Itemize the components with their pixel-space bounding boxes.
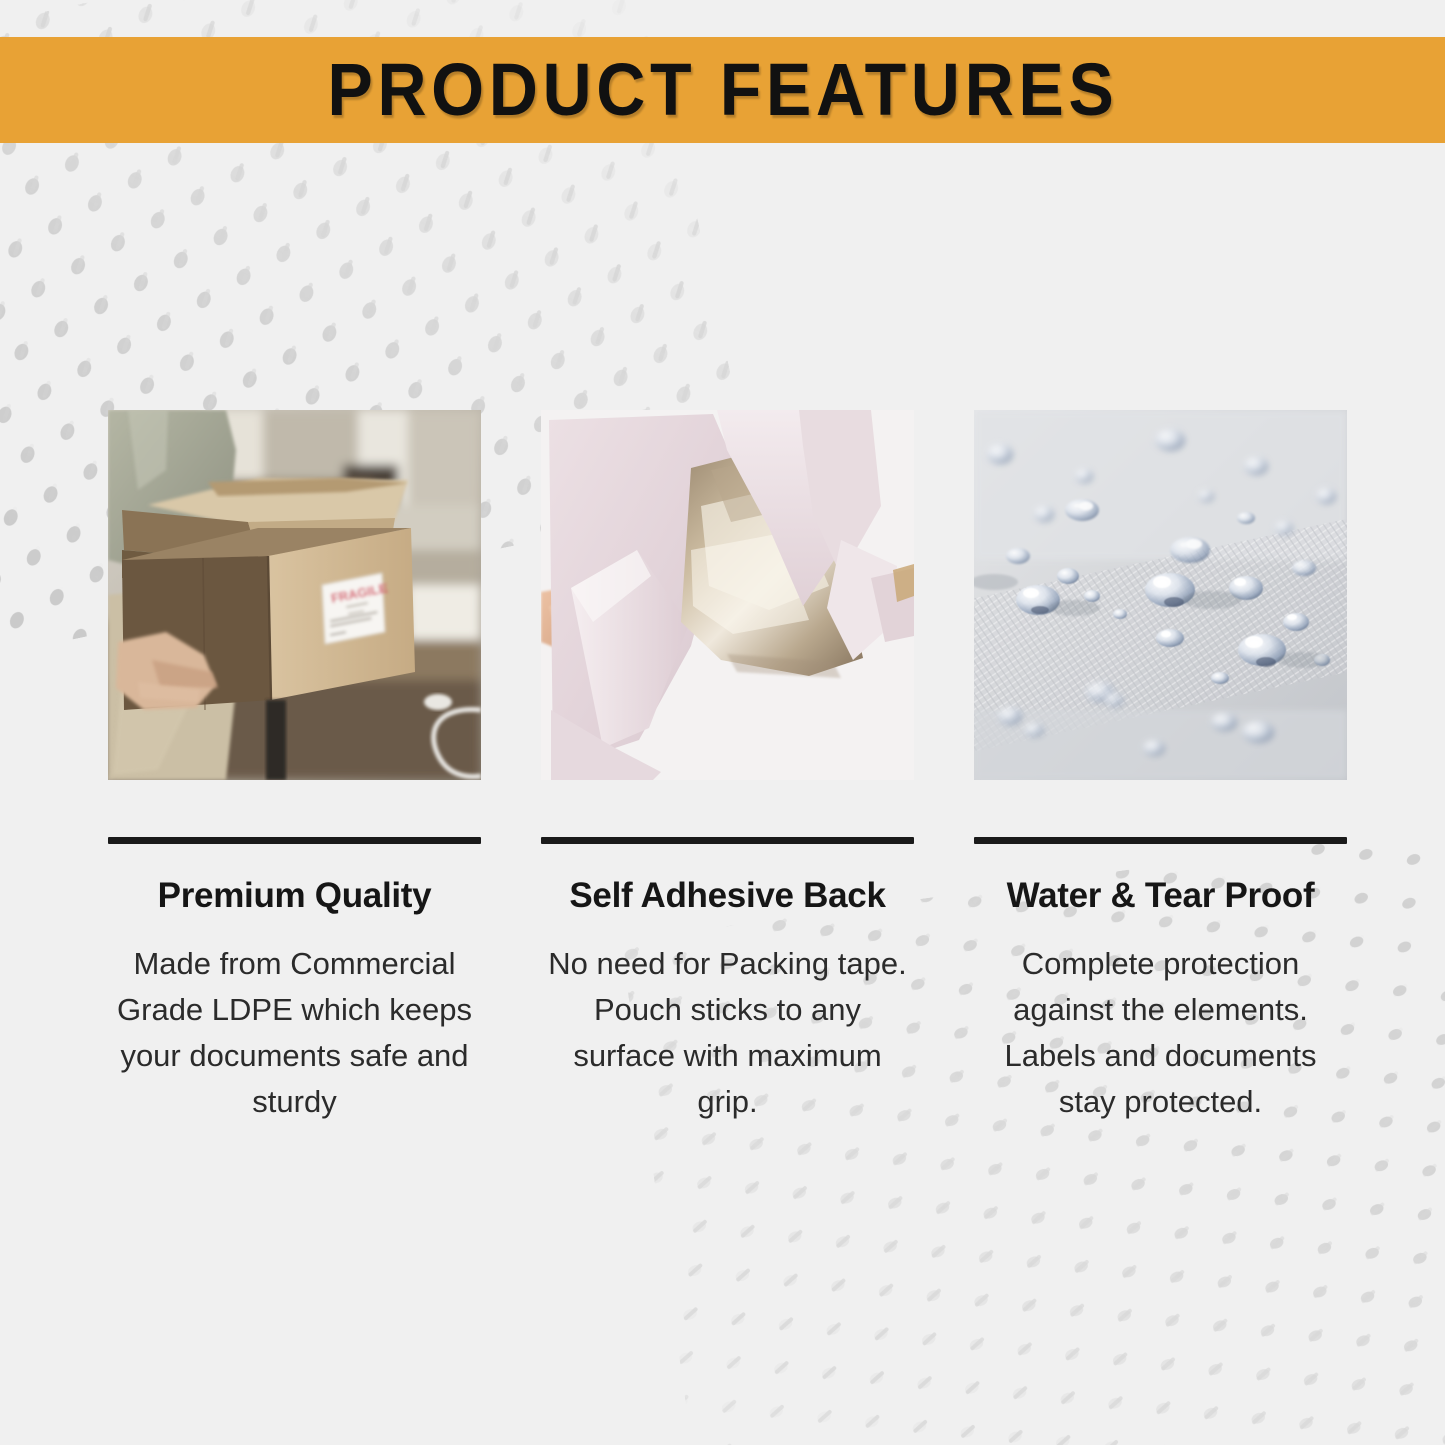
page-title: PRODUCT FEATURES bbox=[327, 53, 1118, 127]
feature-body: No need for Packing tape. Pouch sticks t… bbox=[541, 941, 914, 1125]
product-features-banner: PRODUCT FEATURES bbox=[0, 37, 1445, 143]
person-carrying-cardboard-boxes-photo: FRAGILE bbox=[108, 410, 481, 780]
feature-heading: Premium Quality bbox=[108, 876, 481, 916]
feature-divider bbox=[108, 837, 481, 844]
feature-card-water-tear-proof: Water & Tear Proof Complete protection a… bbox=[974, 410, 1347, 1125]
feature-body: Complete protection against the elements… bbox=[974, 941, 1347, 1125]
feature-body: Made from Commercial Grade LDPE which ke… bbox=[108, 941, 481, 1125]
peeling-adhesive-backing-photo bbox=[541, 410, 914, 780]
feature-divider bbox=[974, 837, 1347, 844]
feature-card-self-adhesive-back: Self Adhesive Back No need for Packing t… bbox=[541, 410, 914, 1125]
feature-divider bbox=[541, 837, 914, 844]
water-droplets-on-fabric-photo bbox=[974, 410, 1347, 780]
feature-grid: FRAGILE Premium Quality Made f bbox=[108, 410, 1337, 1125]
feature-card-premium-quality: FRAGILE Premium Quality Made f bbox=[108, 410, 481, 1125]
feature-heading: Water & Tear Proof bbox=[974, 876, 1347, 916]
feature-heading: Self Adhesive Back bbox=[541, 876, 914, 916]
